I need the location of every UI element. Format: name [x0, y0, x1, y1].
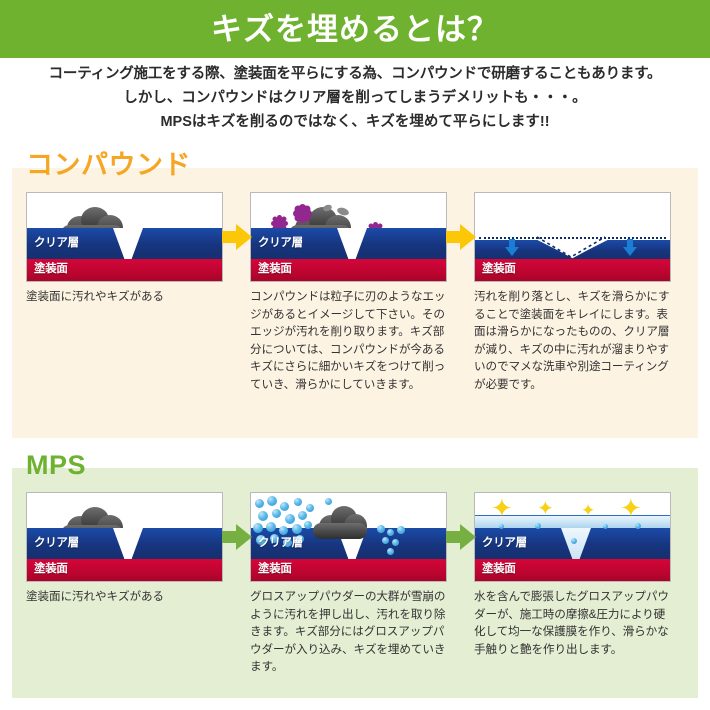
page-title: キズを埋めるとは？ — [211, 14, 499, 45]
header-bar: キズを埋めるとは？ — [0, 0, 710, 58]
intro-text-block: コーティング施工をする際、塗装面を平らにする為、コンパウンドで研磨することもあり… — [0, 62, 710, 134]
intro-line-1: コーティング施工をする際、塗装面を平らにする為、コンパウンドで研磨することもあり… — [0, 62, 710, 86]
infographic-page: キズを埋めるとは？ コーティング施工をする際、塗装面を平らにする為、コンパウンド… — [0, 0, 710, 710]
intro-line-2: しかし、コンパウンドはクリア層を削ってしまうデメリットも・・・。 — [0, 86, 710, 110]
section-heading-compound: コンパウンド — [26, 152, 191, 179]
section-heading-mps: MPS — [26, 452, 86, 479]
intro-line-3: MPSはキズを削るのではなく、キズを埋めて平らにします!! — [0, 110, 710, 134]
section-mps-background — [12, 468, 698, 698]
section-compound-background — [12, 168, 698, 438]
